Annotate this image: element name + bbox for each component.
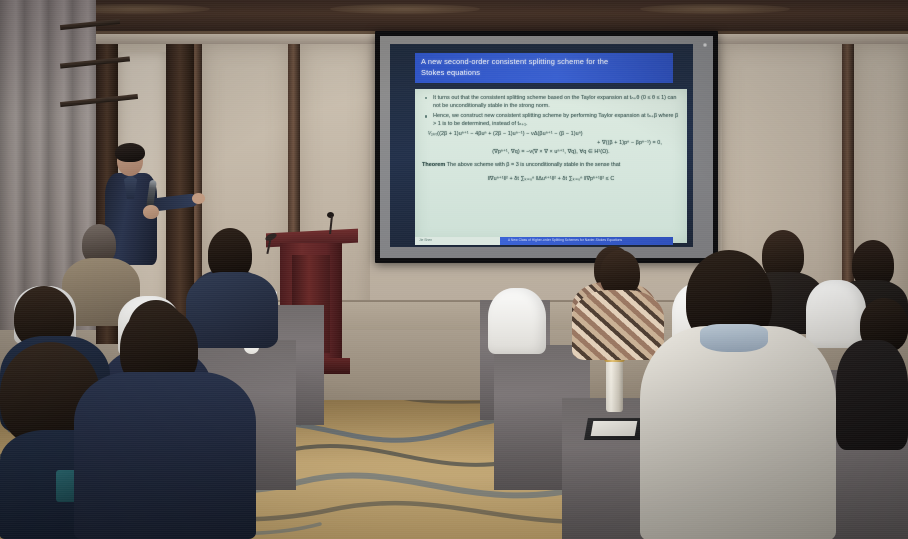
projector-hotspot-icon [703,43,707,47]
thermos-bottle [606,358,623,412]
ceiling-light-glow-3 [640,4,790,14]
presenter-hand [192,193,205,204]
ceiling-beam [0,0,908,34]
slide-bullet-2: Hence, we construct new consistent split… [422,112,680,128]
presentation-slide: A new second-order consistent splitting … [390,44,693,247]
slide-title-line-2: Stokes equations [421,67,667,78]
slide-title: A new second-order consistent splitting … [415,53,673,83]
slide-title-line-1: A new second-order consistent splitting … [421,56,667,67]
slide-footer: Jie Shen A New Class of Higher-order Spl… [415,237,673,245]
attendee-body-m1 [186,272,278,348]
ceiling-light-glow-2 [330,4,480,14]
slide-equation-1: ¹⁄₂ₖₜ((2β + 1)uⁿ⁺¹ − 4βuⁿ + (2β − 1)uⁿ⁻¹… [422,130,680,139]
slide-theorem-text: The above scheme with β = 3 is unconditi… [447,162,621,168]
chair-cover-3 [806,280,866,348]
slide-body: It turns out that the consistent splitti… [415,89,687,243]
slide-equation-2: + ∇((β + 1)pⁿ − βpⁿ⁻¹) = 0, [422,139,680,148]
slide-theorem-label: Theorem [422,162,445,168]
notebook-page [591,421,638,436]
attendee-body-f3 [74,372,256,539]
slide-equation-3: (∇pⁿ⁺¹, ∇q) = −ν(∇ × ∇ × uⁿ⁺¹, ∇q), ∀q ∈… [422,148,680,157]
slide-footer-author: Jie Shen [419,238,432,242]
presenter-hair [115,143,145,162]
slide-theorem: Theorem The above scheme with β = 3 is u… [422,161,680,169]
presenter-mic-hand [143,205,159,219]
slide-footer-title: A New Class of Higher-order Splitting Sc… [508,238,622,242]
slide-theorem-equation: ‖∇uⁿ⁺¹‖² + δt ∑ₖ₌₀ⁿ ‖Δuᵏ⁺¹‖² + δt ∑ₖ₌₀ⁿ … [422,175,680,184]
projection-screen: A new second-order consistent splitting … [375,31,718,263]
attendee-body-m4 [572,290,664,360]
attendee-body-f4 [836,340,908,450]
conference-room-photo: A new second-order consistent splitting … [0,0,908,539]
screen-surface: A new second-order consistent splitting … [380,36,713,258]
slide-bullet-1: It turns out that the consistent splitti… [422,94,680,110]
chair-cover-1 [488,288,546,354]
attendee-collar-f1 [700,324,768,352]
attendee-body-f1 [640,326,836,539]
